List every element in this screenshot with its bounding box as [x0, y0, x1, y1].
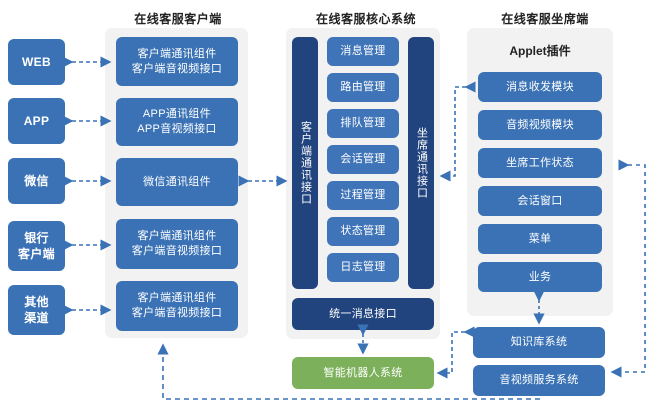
channel-box-app[interactable]: APP	[8, 98, 65, 144]
channel-label: 微信	[24, 173, 49, 189]
robot-system-label: 智能机器人系统	[323, 366, 402, 381]
audio-video-service-system-box[interactable]: 音视频服务系统	[473, 365, 605, 396]
agent-module-label: 坐席工作状态	[506, 156, 574, 171]
client-column-title: 在线客服客户端	[108, 10, 248, 27]
agent-module-label: 业务	[529, 270, 552, 285]
component-line-1: 客户端通讯组件	[132, 229, 222, 244]
agent-module-label: 菜单	[529, 232, 552, 247]
agent-module-label: 会话窗口	[517, 194, 562, 209]
core-module-label: 排队管理	[340, 116, 385, 131]
wire-knowledge-to-robot	[438, 332, 465, 373]
wire-core-to-agent-upper	[441, 87, 466, 176]
channel-box-wechat[interactable]: 微信	[8, 158, 65, 204]
channel-box-other[interactable]: 其他 渠道	[8, 285, 65, 335]
channel-box-bank-client[interactable]: 银行 客户端	[8, 221, 65, 271]
core-module-label: 状态管理	[340, 224, 385, 239]
applet-plugin-title: Applet插件	[467, 42, 613, 59]
service-label: 音视频服务系统	[499, 373, 578, 388]
agent-module-menu[interactable]: 菜单	[478, 224, 602, 254]
unified-message-interface-label: 统一消息接口	[329, 307, 397, 322]
core-module-label: 过程管理	[340, 188, 385, 203]
channel-box-web[interactable]: WEB	[8, 39, 65, 85]
core-module-status[interactable]: 状态管理	[327, 217, 399, 246]
client-component-box-wechat[interactable]: 微信通讯组件	[116, 158, 238, 206]
core-module-log[interactable]: 日志管理	[327, 253, 399, 282]
channel-label: 银行 客户端	[18, 230, 55, 262]
agent-module-message-transceiver[interactable]: 消息收发模块	[478, 72, 602, 102]
wire-right-bus	[612, 165, 645, 372]
core-client-interface-label: 客户端通讯接口	[300, 121, 311, 205]
core-module-label: 路由管理	[340, 80, 385, 95]
agent-module-business[interactable]: 业务	[478, 262, 602, 292]
core-module-message[interactable]: 消息管理	[327, 37, 399, 66]
client-component-box-bank[interactable]: 客户端通讯组件 客户端音视频接口	[116, 219, 238, 269]
component-line-2: 客户端音视频接口	[132, 62, 222, 77]
core-column-title: 在线客服核心系统	[296, 10, 436, 27]
core-module-queue[interactable]: 排队管理	[327, 109, 399, 138]
core-module-label: 会话管理	[340, 152, 385, 167]
core-module-process[interactable]: 过程管理	[327, 181, 399, 210]
core-client-interface-panel[interactable]: 客户端通讯接口	[292, 37, 318, 289]
component-line-2: 客户端音视频接口	[132, 244, 222, 259]
unified-message-interface-box[interactable]: 统一消息接口	[292, 298, 434, 330]
agent-module-label: 音频视频模块	[506, 118, 574, 133]
component-line-1: 客户端通讯组件	[132, 291, 222, 306]
channel-label: 其他 渠道	[24, 294, 49, 326]
component-line-2: 客户端音视频接口	[132, 306, 222, 321]
service-label: 知识库系统	[511, 335, 568, 350]
client-component-box-other[interactable]: 客户端通讯组件 客户端音视频接口	[116, 281, 238, 331]
agent-module-work-status[interactable]: 坐席工作状态	[478, 148, 602, 178]
channel-label: APP	[24, 113, 50, 129]
component-line-1: 客户端通讯组件	[132, 47, 222, 62]
core-agent-interface-panel[interactable]: 坐席通讯接口	[408, 37, 434, 289]
core-module-routing[interactable]: 路由管理	[327, 73, 399, 102]
component-line-2: APP音视频接口	[137, 122, 216, 137]
architecture-diagram: 在线客服客户端 在线客服核心系统 在线客服坐席端 WEB APP 微信 银行 客…	[0, 0, 669, 412]
knowledge-base-system-box[interactable]: 知识库系统	[473, 327, 605, 358]
robot-system-box[interactable]: 智能机器人系统	[292, 357, 434, 389]
core-module-label: 消息管理	[340, 44, 385, 59]
component-line-1: 微信通讯组件	[143, 175, 211, 190]
component-line-1: APP通讯组件	[137, 107, 216, 122]
client-component-box-app[interactable]: APP通讯组件 APP音视频接口	[116, 98, 238, 146]
agent-column-title: 在线客服坐席端	[470, 10, 620, 27]
core-module-session[interactable]: 会话管理	[327, 145, 399, 174]
agent-module-label: 消息收发模块	[506, 80, 574, 95]
channel-label: WEB	[22, 54, 51, 70]
agent-module-session-window[interactable]: 会话窗口	[478, 186, 602, 216]
agent-module-audio-video[interactable]: 音频视频模块	[478, 110, 602, 140]
client-component-box-web[interactable]: 客户端通讯组件 客户端音视频接口	[116, 37, 238, 86]
core-module-label: 日志管理	[340, 260, 385, 275]
core-agent-interface-label: 坐席通讯接口	[416, 127, 427, 199]
